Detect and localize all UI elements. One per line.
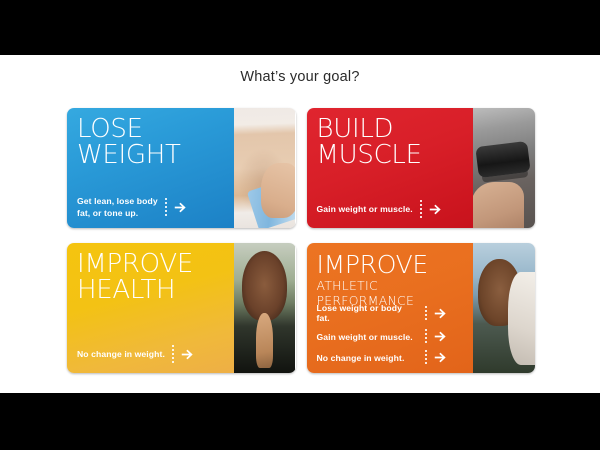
card-panel: IMPROVE HEALTH No change in weight. [67,243,234,373]
option-label: No change in weight. [317,353,418,363]
dotted-divider [425,350,427,365]
goal-card-athletic-performance[interactable]: IMPROVE ATHLETIC PERFORMANCE Lose weight… [307,243,536,373]
arrow-right-icon[interactable] [174,201,187,214]
option-row-gain-weight[interactable]: Gain weight or muscle. [317,329,447,344]
arrow-right-icon[interactable] [434,351,447,364]
card-row-2: IMPROVE HEALTH No change in weight. [67,243,535,373]
card-row-1: LOSE WEIGHT Get lean, lose body fat, or … [67,108,535,228]
card-title: BUILD MUSCLE [317,117,474,168]
card-panel: LOSE WEIGHT Get lean, lose body fat, or … [67,108,234,228]
card-photo-bench-press [473,108,535,228]
goal-card-build-muscle[interactable]: BUILD MUSCLE Gain weight or muscle. [307,108,536,228]
option-row-lose-weight[interactable]: Lose weight or body fat. [317,303,447,323]
card-panel: IMPROVE ATHLETIC PERFORMANCE Lose weight… [307,243,474,373]
content-area: What’s your goal? LOSE WEIGHT Get lean, … [0,55,600,393]
card-title: IMPROVE HEALTH [77,252,234,303]
card-title: LOSE WEIGHT [77,117,234,168]
goal-card-lose-weight[interactable]: LOSE WEIGHT Get lean, lose body fat, or … [67,108,296,228]
dotted-divider [165,198,167,217]
screen-frame: What’s your goal? LOSE WEIGHT Get lean, … [0,0,600,450]
card-photo-athlete [473,243,535,373]
dotted-divider [425,306,427,321]
goal-card-grid: LOSE WEIGHT Get lean, lose body fat, or … [67,108,535,373]
card-cta[interactable]: Get lean, lose body fat, or tone up. [77,196,187,219]
goal-card-improve-health[interactable]: IMPROVE HEALTH No change in weight. [67,243,296,373]
card-cta-label: Gain weight or muscle. [317,204,413,215]
card-photo-meditating-woman [234,243,296,373]
dotted-divider [420,200,422,219]
option-row-no-change[interactable]: No change in weight. [317,350,447,365]
card-option-list: Lose weight or body fat. Gain weight or … [317,303,447,366]
card-cta[interactable]: No change in weight. [77,345,194,364]
card-panel: BUILD MUSCLE Gain weight or muscle. [307,108,474,228]
card-photo-waist-measure [234,108,296,228]
arrow-right-icon[interactable] [429,203,442,216]
option-label: Lose weight or body fat. [317,303,418,323]
dotted-divider [425,329,427,344]
card-title: IMPROVE [317,252,474,277]
arrow-right-icon[interactable] [434,307,447,320]
option-label: Gain weight or muscle. [317,332,418,342]
card-cta[interactable]: Gain weight or muscle. [317,200,442,219]
dotted-divider [172,345,174,364]
page-title: What’s your goal? [0,55,600,85]
card-cta-label: Get lean, lose body fat, or tone up. [77,196,158,219]
arrow-right-icon[interactable] [181,348,194,361]
arrow-right-icon[interactable] [434,330,447,343]
card-cta-label: No change in weight. [77,349,165,360]
